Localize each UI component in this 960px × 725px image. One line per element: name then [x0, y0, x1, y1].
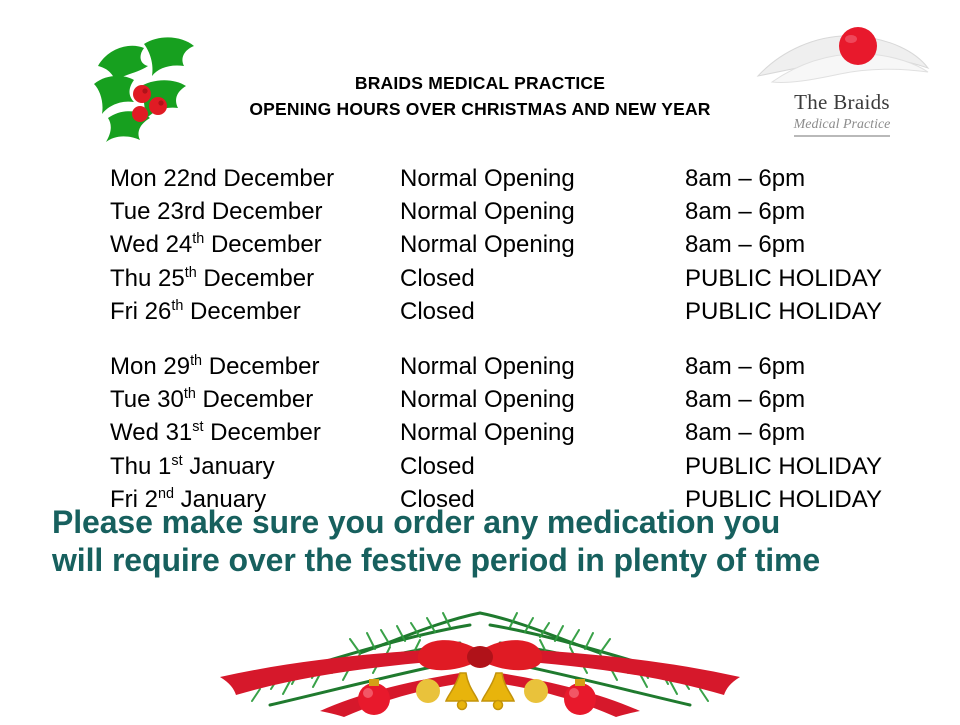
row-date-sup: th	[184, 386, 196, 402]
row-status: Normal Opening	[400, 228, 685, 261]
row-status: Closed	[400, 295, 685, 328]
row-date-suffix: December	[203, 419, 320, 446]
table-row: Fri 26th December Closed PUBLIC HOLIDAY	[110, 295, 910, 328]
row-date-suffix: December	[196, 386, 313, 413]
row-date-sup: th	[185, 265, 197, 281]
row-date-sup: st	[171, 453, 182, 469]
row-date-suffix: December	[197, 265, 314, 292]
row-date-prefix: Mon 22nd December	[110, 165, 334, 192]
row-note: 8am – 6pm	[685, 416, 910, 449]
row-status: Normal Opening	[400, 383, 685, 416]
row-status: Closed	[400, 262, 685, 295]
table-row: Wed 24th December Normal Opening 8am – 6…	[110, 228, 910, 261]
row-date-prefix: Mon 29	[110, 353, 190, 380]
row-date: Fri 26th December	[110, 295, 400, 328]
row-date-sup: th	[171, 298, 183, 314]
table-row-spacer	[110, 328, 910, 350]
row-date: Tue 30th December	[110, 383, 400, 416]
table-row: Thu 25th December Closed PUBLIC HOLIDAY	[110, 262, 910, 295]
reminder-message: Please make sure you order any medicatio…	[52, 503, 942, 579]
row-note: 8am – 6pm	[685, 383, 910, 416]
row-status: Normal Opening	[400, 350, 685, 383]
row-date-prefix: Wed 24	[110, 231, 192, 258]
row-date: Wed 31st December	[110, 416, 400, 449]
row-date-suffix: December	[202, 353, 319, 380]
reminder-message-line-2: will require over the festive period in …	[52, 541, 942, 579]
row-note: PUBLIC HOLIDAY	[685, 450, 910, 483]
row-date-suffix: December	[183, 298, 300, 325]
row-date-sup: nd	[158, 486, 174, 502]
table-row: Mon 22nd December Normal Opening 8am – 6…	[110, 162, 910, 195]
row-date-sup: st	[192, 419, 203, 435]
table-row: Thu 1st January Closed PUBLIC HOLIDAY	[110, 450, 910, 483]
row-date: Thu 25th December	[110, 262, 400, 295]
row-date-suffix: January	[183, 453, 275, 480]
row-date-sup: th	[190, 353, 202, 369]
row-status: Normal Opening	[400, 162, 685, 195]
table-row: Wed 31st December Normal Opening 8am – 6…	[110, 416, 910, 449]
row-date: Mon 29th December	[110, 350, 400, 383]
row-status: Normal Opening	[400, 416, 685, 449]
row-date-prefix: Tue 23rd December	[110, 198, 323, 225]
row-date-prefix: Thu 1	[110, 453, 171, 480]
opening-hours-table: Mon 22nd December Normal Opening 8am – 6…	[110, 162, 910, 516]
row-status: Closed	[400, 450, 685, 483]
row-status: Normal Opening	[400, 195, 685, 228]
row-date-suffix: December	[204, 231, 321, 258]
page-title: BRAIDS MEDICAL PRACTICE OPENING HOURS OV…	[0, 70, 960, 122]
row-date: Wed 24th December	[110, 228, 400, 261]
row-date-sup: th	[192, 231, 204, 247]
christmas-garland-icon	[160, 595, 800, 720]
row-date-prefix: Fri 26	[110, 298, 171, 325]
title-line-2: OPENING HOURS OVER CHRISTMAS AND NEW YEA…	[0, 96, 960, 122]
row-note: 8am – 6pm	[685, 228, 910, 261]
row-note: 8am – 6pm	[685, 162, 910, 195]
poster-page: The Braids Medical Practice BRAIDS MEDIC…	[0, 0, 960, 720]
row-date: Mon 22nd December	[110, 162, 400, 195]
row-date: Tue 23rd December	[110, 195, 400, 228]
row-date-prefix: Tue 30	[110, 386, 184, 413]
row-note: PUBLIC HOLIDAY	[685, 295, 910, 328]
row-date-prefix: Thu 25	[110, 265, 185, 292]
row-date-prefix: Wed 31	[110, 419, 192, 446]
row-note: 8am – 6pm	[685, 195, 910, 228]
title-line-1: BRAIDS MEDICAL PRACTICE	[0, 70, 960, 96]
reminder-message-line-1: Please make sure you order any medicatio…	[52, 503, 942, 541]
row-note: PUBLIC HOLIDAY	[685, 262, 910, 295]
table-row: Mon 29th December Normal Opening 8am – 6…	[110, 350, 910, 383]
row-date: Thu 1st January	[110, 450, 400, 483]
table-row: Tue 30th December Normal Opening 8am – 6…	[110, 383, 910, 416]
table-row: Tue 23rd December Normal Opening 8am – 6…	[110, 195, 910, 228]
row-note: 8am – 6pm	[685, 350, 910, 383]
